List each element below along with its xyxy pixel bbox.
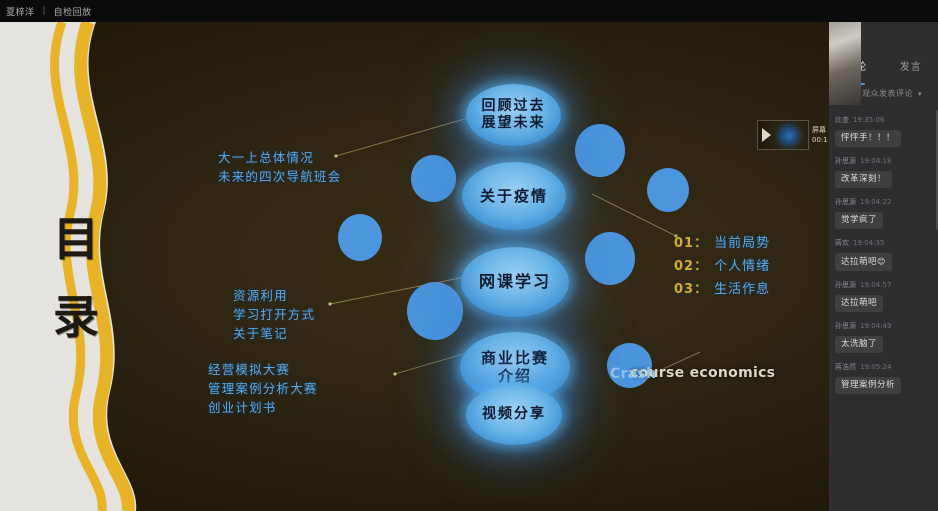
presentation-stage[interactable]: 目 录 回顾过去 展望未来 关于疫情 — [0, 22, 938, 511]
numbered-list-item-label: 当前局势 — [714, 232, 770, 255]
toc-char-2: 录 — [34, 278, 120, 356]
bubble-online-class[interactable]: 网课学习 — [461, 247, 569, 317]
comment-item: 孙思源 19:04:18 改革深刻！ — [835, 155, 932, 192]
annotation-resource-line-2: 学习打开方式 — [233, 305, 315, 324]
numbered-list-item: 02： 个人情绪 — [674, 255, 770, 278]
bubble-competition-line-2: 介绍 — [481, 367, 549, 385]
top-bar-separator: | — [43, 6, 46, 16]
numbered-list-item: 01： 当前局势 — [674, 232, 770, 255]
crash-course-head: Crash — [610, 366, 656, 382]
comment-text: 改革深刻！ — [835, 171, 892, 188]
comment-text: 达拉萌吧 — [841, 257, 877, 267]
comment-time: 19:05:24 — [860, 361, 891, 374]
comment-text: 觉学疯了 — [835, 212, 883, 229]
webcam-feed[interactable] — [829, 22, 938, 105]
video-thumbnail-time: 00:1 — [812, 135, 828, 145]
webcam-image — [829, 22, 861, 105]
bubble-video-share-line-1: 视频分享 — [482, 406, 546, 423]
smile-emoji-icon: 😊 — [877, 257, 886, 266]
bubble-competition-line-1: 商业比赛 — [481, 349, 549, 367]
comment-text: 管理案例分析 — [835, 377, 901, 394]
video-thumbnail-meta: 屏幕 00:1 — [812, 125, 828, 145]
bubble-review-line-2: 展望未来 — [482, 115, 546, 132]
annotation-contest: 经营模拟大赛 管理案例分析大赛 创业计划书 — [208, 360, 318, 417]
top-bar: 夏梓洋 | 自检回放 — [0, 0, 938, 22]
top-bar-mode: 自检回放 — [54, 5, 92, 18]
decor-circle-4 — [338, 214, 382, 261]
annotation-contest-line-2: 管理案例分析大赛 — [208, 379, 318, 398]
comment-author: 孙思源 — [835, 155, 856, 168]
comment-meta: 孙思源 19:04:57 — [835, 279, 932, 292]
annotation-overview: 大一上总体情况 未来的四次导航班会 — [218, 148, 341, 186]
numbered-list-item-number: 03： — [674, 278, 708, 301]
comment-author: 孙思源 — [835, 320, 856, 333]
comment-author: 孙思源 — [835, 196, 856, 209]
comment-text: 太洗脑了 — [835, 336, 883, 353]
decor-circle-3 — [647, 168, 689, 212]
bubble-online-class-line-1: 网课学习 — [479, 272, 551, 292]
comment-time: 19:35:06 — [853, 114, 884, 127]
decor-circle-2 — [575, 124, 625, 177]
annotation-resource-line-1: 资源利用 — [233, 286, 315, 305]
annotation-overview-line-2: 未来的四次导航班会 — [218, 167, 341, 186]
bubble-review[interactable]: 回顾过去 展望未来 — [466, 84, 561, 146]
comment-time: 19:04:22 — [860, 196, 891, 209]
comment-author: 蒋欢 — [835, 237, 849, 250]
decor-circle-5 — [585, 232, 635, 285]
comment-text-with-emoji: 达拉萌吧😊 — [835, 253, 892, 271]
video-thumbnail-image[interactable] — [757, 120, 809, 150]
annotation-resource: 资源利用 学习打开方式 关于笔记 — [233, 286, 315, 343]
comment-time: 19:04:18 — [860, 155, 891, 168]
video-thumbnail-overlay[interactable]: 屏幕 00:1 — [757, 119, 841, 151]
annotation-overview-line-1: 大一上总体情况 — [218, 148, 341, 167]
bubble-video-share[interactable]: 视频分享 — [466, 385, 562, 445]
comment-item: 孙思源 19:04:22 觉学疯了 — [835, 196, 932, 233]
comment-meta: 蒋浩然 19:05:24 — [835, 361, 932, 374]
comment-time: 19:04:49 — [860, 320, 891, 333]
comment-text: 达拉萌吧 — [835, 295, 883, 312]
comment-meta: 蒋欢 19:04:35 — [835, 237, 932, 250]
comment-meta: 孙思源 19:04:22 — [835, 196, 932, 209]
numbered-list-item: 03： 生活作息 — [674, 278, 770, 301]
comment-meta: 比查 19:35:06 — [835, 114, 932, 127]
comment-author: 孙思源 — [835, 279, 856, 292]
comment-item: 蒋浩然 19:05:24 管理案例分析 — [835, 361, 932, 398]
annotation-contest-line-3: 创业计划书 — [208, 398, 318, 417]
comment-time: 19:04:57 — [860, 279, 891, 292]
comment-item: 孙思源 19:04:49 太洗脑了 — [835, 320, 932, 357]
numbered-list-item-label: 生活作息 — [714, 278, 770, 301]
decor-circle-1 — [411, 155, 456, 202]
numbered-list: 01： 当前局势 02： 个人情绪 03： 生活作息 — [674, 232, 770, 301]
comment-item: 孙思源 19:04:57 达拉萌吧 — [835, 279, 932, 316]
comment-time: 19:04:35 — [853, 237, 884, 250]
numbered-list-item-number: 01： — [674, 232, 708, 255]
video-thumbnail-title: 屏幕 — [812, 125, 828, 135]
decor-circle-6 — [407, 282, 463, 340]
top-bar-username: 夏梓洋 — [6, 5, 35, 18]
slide-toc-title: 目 录 — [34, 200, 120, 356]
numbered-list-item-label: 个人情绪 — [714, 255, 770, 278]
comment-meta: 孙思源 19:04:18 — [835, 155, 932, 168]
comment-author: 蒋浩然 — [835, 361, 856, 374]
toc-char-1: 目 — [34, 200, 120, 278]
comment-list[interactable]: 比查 19:35:06 怦怦手！！！ 孙思源 19:04:18 改革深刻！ 孙思… — [829, 110, 938, 410]
annotation-contest-line-1: 经营模拟大赛 — [208, 360, 318, 379]
bubble-epidemic[interactable]: 关于疫情 — [462, 162, 566, 230]
comment-meta: 孙思源 19:04:49 — [835, 320, 932, 333]
comment-item: 比查 19:35:06 怦怦手！！！ — [835, 114, 932, 151]
numbered-list-item-number: 02： — [674, 255, 708, 278]
comment-item: 蒋欢 19:04:35 达拉萌吧😊 — [835, 237, 932, 275]
right-side-panel[interactable]: 评论 发言 允许观众发表评论 ▾ 比查 19:35:06 怦怦手！！！ 孙思源 … — [829, 22, 938, 511]
bubble-epidemic-line-1: 关于疫情 — [480, 187, 548, 205]
comment-text: 怦怦手！！！ — [835, 130, 901, 147]
bubble-review-line-1: 回顾过去 — [482, 98, 546, 115]
annotation-resource-line-3: 关于笔记 — [233, 324, 315, 343]
